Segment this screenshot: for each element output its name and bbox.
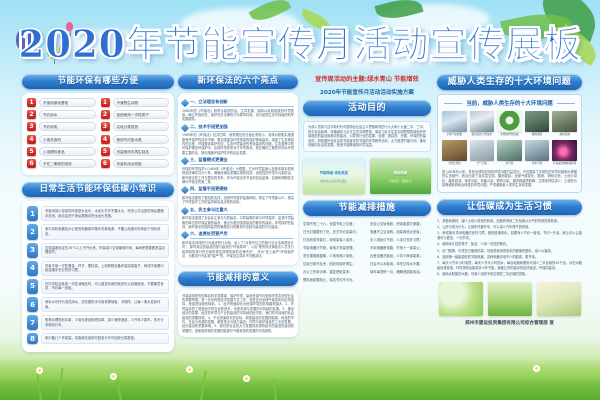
list-item: 不用电器断电路，节电十一省量公；: [370, 244, 431, 252]
flower-decoration: [110, 373, 117, 380]
list-number: 7: [27, 315, 38, 330]
list-item: 1不使用钢化餐柜: [27, 98, 96, 107]
section-header-daily-knowledge: 日常生活节能环保低碳小常识: [22, 182, 174, 197]
problem-photo: [470, 111, 495, 132]
problem-caption: 水污染: [497, 161, 522, 166]
problem-photo: [470, 140, 495, 161]
problem-photo: [525, 111, 550, 132]
list-item: 3节约用电: [27, 122, 96, 131]
list-item: 电器不立空运转，用量用低太安省；: [370, 228, 431, 236]
measures-list-right: 多坐公交轨地铁，积省能源又便捷； 电器不立空运转，用量用低太安省； 无人用处灯不…: [370, 220, 431, 285]
column-right: 威胁人类生存的十大环境问题 当前，威胁人类生存的十大环境问题 全球气候变暖 臭氧…: [437, 74, 582, 372]
flower-decoration: [186, 366, 193, 373]
list-label: 少用塑料食品: [39, 147, 96, 156]
poster-image-left: 节能降碳 绿色发展 绿水青山 就是金山银山: [303, 158, 365, 194]
list-item: 出差自备洗漱品，少拿少换省能源；: [370, 252, 431, 260]
meaning-panel: 节能减排是贯彻落实科学发展观、保护环境、建设资源节约型和环境友好型社会的重要举措…: [178, 290, 298, 338]
subsection-body: 1989年的《环保法》总共四章，侧重理论的方面比重较小，具体对政策实施措施有环保…: [182, 133, 294, 155]
list-item: 5、出门购物，可重复已使用的袋，尽量是使用低成本的被使的塑料，减少公害用。: [437, 249, 582, 254]
list-item: 6、选用第一级能源效的节能电器，这种电器省电不少的能源，更节电。: [437, 255, 582, 260]
list-label: 不食野生动物: [113, 98, 170, 107]
eco-tips-panel: 1不使用钢化餐柜 2节约用水 3节约用电 4少用洗涤剂 5少用塑料食品 6不在二…: [22, 93, 174, 175]
section-header-purpose: 活动目的: [303, 100, 431, 116]
campaign-theme: 宣传周活动的主题:绿水青山 节能增效: [303, 74, 431, 83]
list-number: 4: [101, 135, 110, 144]
subsection-title: 五、民主参与比重大: [190, 207, 294, 215]
section-header-measures: 节能减排措施: [303, 200, 431, 216]
list-item: 2拒绝使用一次性筷子: [101, 110, 170, 119]
problems-intro: 进入80年代以来，具有全球性影响的环境问题日益突出，不仅直接了灾难性的环境问题和…: [442, 170, 577, 188]
eco-tips-column-1: 1不使用钢化餐柜 2节约用水 3节约用电 4少用洗涤剂 5少用塑料食品 6不在二…: [27, 98, 96, 171]
list-number: 4: [27, 135, 36, 144]
list-item: 6淘米水可作为浇花用水，洗衣服的水可用来擦地板、冲厕所，让每一滴水发挥作用。: [27, 297, 169, 312]
list-item: 1不食野生动物: [101, 98, 170, 107]
daily-knowledge-panel: 1尽量采用小容量的环保型水龙头，水龙头打开不要太大，洗完公共浴室的用后要随手关闭…: [22, 201, 174, 352]
problem-photo: [552, 140, 577, 161]
list-item: 2、让步行成为行为，让骑车代替开车，可以减少汽车尾气的排放。: [437, 225, 582, 230]
list-item: 4尽量不用一次性餐盒、杯子、塑料袋，上街购物自备布袋或菜篮子，养成不用餐巾纸及随…: [27, 261, 169, 276]
problem-caption: 土地荒漠化: [442, 161, 467, 166]
list-item: 4使用节约型水具: [101, 135, 170, 144]
problem-cell: 大气污染: [470, 140, 495, 166]
problem-photo: [497, 140, 522, 161]
problem-cell: 酸雨蔓延: [525, 111, 550, 137]
measures-lists: 空调不低二十六，全国节电上亿度； 日光灯被替代了化，旧式节约加量灯； 灯泡改成节…: [303, 220, 431, 285]
list-label: 不在二氧碳的排放: [39, 159, 96, 168]
list-number: 3: [27, 243, 38, 258]
list-item: 灯泡改成节能灯，用电量省人省多；: [303, 236, 364, 244]
problems-panel: 当前，威胁人类生存的十大环境问题 全球气候变暖 臭氧层的空洞加大 生物多样性锐减…: [437, 94, 582, 193]
flower-decoration: [243, 375, 250, 382]
section-header-problems: 威胁人类生存的十大环境问题: [437, 74, 582, 90]
diamond-bullet-icon: [181, 157, 189, 165]
subsection-body: 1989年的《环保法》侧重污染的防治，主导发展、保障公民和健康的环境质量。确立环…: [182, 109, 294, 122]
list-text: 尽量采用小容量的环保型水龙头，水龙头打开不要太大，洗完公共浴室的用后要随手关闭，…: [41, 206, 169, 221]
list-label: 使用节约型水具: [113, 135, 170, 144]
list-item: 8、使用太阳能热水器，尽量少用或不用空调的二氧化碳的排放。: [437, 272, 582, 277]
list-label: 拒绝使用一次性筷子: [113, 110, 170, 119]
list-text: 购物合理规划清单，少用无规划购物清单，减少食物浪费，少开车少乘车，多步行多骑自行…: [41, 315, 169, 330]
list-item: 3空调温度设定在26℃以上不开太低，尽量减少空调使用时间，每间房里要看室温合理调…: [27, 243, 169, 258]
illustration-row: [437, 282, 582, 316]
diamond-bullet-icon: [181, 206, 189, 214]
list-item: 1尽量采用小容量的环保型水龙头，水龙头打开不要太大，洗完公共浴室的用后要随手关闭…: [27, 206, 169, 221]
list-item: 社会不以水取用，年吃亿吨水不要；: [370, 260, 431, 268]
problem-photo: [442, 111, 467, 132]
problem-caption: 生物多样性锐减: [497, 132, 522, 137]
list-item: 日光灯被替代了化，旧式节约加量灯；: [303, 228, 364, 236]
subsection-title: 三、监管模式更健全: [190, 157, 294, 165]
subsection-body: 新环保法强调了社会民主参与与的建设，引导建筑的参与环境保护，监督环境监管的单位的…: [182, 216, 294, 229]
subsection-heading: 一、立法理念有创新: [182, 99, 294, 107]
column-mid: 新环保法的六个亮点 一、立法理念有创新 1989年的《环保法》侧重污染的防治，主…: [178, 74, 298, 372]
subsection-body: 新环保法提供了更加的支持，加快环境保护监管体制，规定了环境部公众，提高了环境保护…: [182, 196, 294, 205]
section-header-eco-tips: 节能环保有哪些方便: [22, 74, 174, 89]
illustration-recycling: [537, 282, 581, 316]
problems-inner-title: 当前，威胁人类生存的十大环境问题: [442, 99, 577, 107]
problem-photo: [525, 140, 550, 161]
subsection-heading: 二、技术手段更加强: [182, 124, 294, 132]
subsection-body: 新环保法具体的行为建设的行为新，加入了"对按不住之的按行业业法制规定计时"，新环…: [182, 241, 294, 259]
problem-cell: 臭氧层的空洞加大: [470, 111, 495, 137]
problem-cell: 生物多样性锐减: [497, 111, 522, 137]
list-text: 淘米水可作为浇花用水，洗衣服的水可用来擦地板、冲厕所，让每一滴水发挥作用。: [41, 297, 169, 312]
subsection-body: 环保的环境保护以1989年《环保法》为根据，它对环境监管以及基本基本原则规划法律…: [182, 167, 294, 185]
flower-decoration: [533, 365, 540, 372]
section-header-habits: 让低碳成为生活习惯: [437, 199, 582, 215]
problem-cell: 海水污染: [525, 140, 550, 166]
list-item: 4少用洗涤剂: [27, 135, 96, 144]
plan-title: 2020年节能宣传月活动活动实施方案: [303, 88, 431, 96]
eco-tips-column-2: 1不食野生动物 2拒绝使用一次性筷子 3垃圾分类投放 4使用节约型水具 5尽量使…: [101, 98, 170, 171]
list-item: 7购物合理规划清单，少用无规划购物清单，减少食物浪费，少开车少乘车，多步行多骑自…: [27, 315, 169, 330]
meaning-body: 节能减排是贯彻落实科学发展观、保护环境、建设资源节约型和环境友好型社会的重要举措…: [182, 294, 294, 334]
list-text: 家中备几个环保袋，将各种垃圾按可回收与不可回收分类投放。: [41, 333, 169, 344]
habits-list: 1、多植树造林，减少土地沙漠化的利用，还能有效地二氧化碳从大气的有效的排放量。 …: [437, 219, 582, 277]
list-label: 节约用水: [39, 110, 96, 119]
problem-caption: 全球气候变暖: [442, 132, 467, 137]
problem-cell: 土地荒漠化: [442, 140, 467, 166]
list-label: 尽量利用太阳能: [113, 159, 170, 168]
list-number: 5: [101, 147, 110, 156]
poster-image-left-title: 节能降碳 绿色发展: [303, 170, 365, 175]
problem-cell: 全球气候变暖: [442, 111, 467, 137]
illustration-cycling: [488, 282, 532, 316]
list-label: 尽量使用可再生制品: [113, 147, 170, 156]
diamond-bullet-icon: [181, 231, 189, 239]
illustration-family-tree: [439, 282, 483, 316]
subsection-title: 四、监管手段更硬核: [190, 186, 294, 194]
list-item: 塑料浪费要制止，保这节约不可为。: [303, 276, 364, 284]
problem-cell: 水污染: [497, 140, 522, 166]
grass-decoration-front: [0, 378, 600, 400]
problems-inner-title-text: 当前，威胁人类生存的十大环境问题: [462, 101, 556, 107]
list-number: 1: [101, 98, 110, 107]
problem-photo: [442, 140, 467, 161]
list-text: 家中待机电器及办公室的电器用毕随手关掉电源，不要让电源长时间处于待机状态。: [41, 224, 169, 239]
list-number: 2: [101, 110, 110, 119]
list-number: 3: [101, 122, 110, 131]
poster-image-right-subtitle: 节能先锋 · 低碳生活: [370, 179, 432, 183]
poster-image-left-subtitle: 绿水青山 就是金山银山: [303, 179, 365, 183]
new-law-panel: 一、立法理念有创新 1989年的《环保法》侧重污染的防治，主导发展、保障公民和健…: [178, 93, 298, 265]
list-label: 少用洗涤剂: [39, 135, 96, 144]
list-item: 3、养成随手关闭电器的良好习惯，做快是通电化，如果有人节约一度电，节约一升油，就…: [437, 231, 582, 241]
list-item: 多坐公交轨地铁，积省能源又便捷；: [370, 220, 431, 228]
list-number: 8: [27, 333, 38, 344]
diamond-bullet-icon: [181, 186, 189, 194]
problems-grid: 全球气候变暖 臭氧层的空洞加大 生物多样性锐减 酸雨蔓延 森林锐减 土地荒漠化 …: [442, 111, 577, 166]
problem-caption: 大气污染: [470, 161, 495, 166]
list-text: 尽量不用一次性餐盒、杯子、塑料袋，上街购物自备布袋或菜篮子，养成不用餐巾纸及随手…: [41, 261, 169, 276]
column-left: 节能环保有哪些方便 1不使用钢化餐柜 2节约用水 3节约用电 4少用洗涤剂 5少…: [22, 74, 174, 372]
list-item: 多去楼梯爬楼梯，少用电梯少用电；: [303, 252, 364, 260]
subsection-heading: 四、监管手段更硬核: [182, 186, 294, 194]
list-label: 垃圾分类投放: [113, 122, 170, 131]
publisher-credit: 郑州市建设投资集团有限公司综合管理部 宣: [437, 320, 582, 326]
list-number: 6: [27, 159, 36, 168]
list-number: 2: [27, 224, 38, 239]
subsection-heading: 三、监管模式更健全: [182, 157, 294, 165]
list-item: 2节约用水: [27, 110, 96, 119]
list-item: 2家中待机电器及办公室的电器用毕随手关掉电源，不要让电源长时间处于待机状态。: [27, 224, 169, 239]
list-item: 节能电器巧节规，省电才多量是理；: [303, 244, 364, 252]
poster-root: 2020年节能宣传月活动宣传展板 节能环保有哪些方便 1不使用钢化餐柜 2节约用…: [0, 0, 600, 400]
problem-caption: 森林锐减: [552, 132, 577, 137]
list-text: 在打印机及各类一次性消耗品时，可以重复利用的纸张可以双面使用，不要随意丢弃，节约…: [41, 279, 169, 294]
list-number: 6: [101, 159, 110, 168]
list-item: 无人用处灯不亮，人走灯关好习惯；: [370, 236, 431, 244]
flower-decoration: [36, 367, 43, 374]
title-banner: 2020年节能宣传月活动宣传展板: [0, 14, 600, 68]
list-item: 5在打印机及各类一次性消耗品时，可以重复利用的纸张可以双面使用，不要随意丢弃，节…: [27, 279, 169, 294]
diamond-bullet-icon: [181, 99, 189, 107]
problem-cell: 有毒废弃物越境转移: [552, 140, 577, 166]
list-number: 3: [27, 122, 36, 131]
purpose-body: 为深入贯彻习近平新时代中国特色社会主义思想和党的十九大和十九届二中、三中、四中全…: [303, 121, 431, 152]
list-label: 节约用电: [39, 122, 96, 131]
problem-caption: 海水污染: [525, 161, 550, 166]
list-item: 绿车每顶停一月，缓解浪费能省油。: [370, 268, 431, 276]
problem-photo: [497, 111, 522, 132]
list-number: 4: [27, 261, 38, 276]
poster-image-right: 绿色低碳 节能先锋 · 低碳生活: [370, 158, 432, 194]
list-item: 办公工作用法律，重复把纸量多；: [303, 268, 364, 276]
subsection-heading: 五、民主参与比重大: [182, 207, 294, 215]
subsection-title: 二、技术手段更加强: [190, 124, 294, 132]
section-header-meaning: 节能减排的意义: [178, 271, 298, 286]
list-item: 6尽量利用太阳能: [101, 159, 170, 168]
measures-list-left: 空调不低二十六，全国节电上亿度； 日光灯被替代了化，旧式节约加量灯； 灯泡改成节…: [303, 220, 364, 285]
list-number: 1: [27, 98, 36, 107]
list-item: 8家中备几个环保袋，将各种垃圾按可回收与不可回收分类投放。: [27, 333, 169, 344]
list-number: 5: [27, 147, 36, 156]
page-title: 2020年节能宣传月活动宣传展板: [19, 14, 582, 68]
problem-cell: 森林锐减: [552, 111, 577, 137]
list-item: 垃圾分类不乱丢，回收利用好再生；: [303, 260, 364, 268]
list-label: 不使用钢化餐柜: [39, 98, 96, 107]
problem-caption: 有毒废弃物越境转移: [552, 161, 577, 166]
content-board: 节能环保有哪些方便 1不使用钢化餐柜 2节约用水 3节约用电 4少用洗涤剂 5少…: [22, 74, 582, 372]
subsection-heading: 六、追责处罚更严厉: [182, 231, 294, 239]
list-item: 7、每天少开半小时电视，每天少开半小时的水，每台电脑和照用可减少二氧化碳的42千…: [437, 261, 582, 271]
list-item: 空调不低二十六，全国节电上亿度；: [303, 220, 364, 228]
list-number: 5: [27, 279, 38, 294]
poster-image-right-title: 绿色低碳: [370, 170, 432, 175]
column-center: 宣传周活动的主题:绿水青山 节能增效 2020年节能宣传月活动活动实施方案 活动…: [303, 74, 431, 372]
list-text: 空调温度设定在26℃以上不开太低，尽量减少空调使用时间，每间房里要看室温合理调节…: [41, 243, 169, 258]
list-item: 4、使用永久性的筷子、饭盒、少用一次性的餐具。: [437, 242, 582, 247]
list-item: 1、多植树造林，减少土地沙漠化的利用，还能有效地二氧化碳从大气的有效的排放量。: [437, 219, 582, 224]
list-item: 5尽量使用可再生制品: [101, 147, 170, 156]
list-number: 2: [27, 110, 36, 119]
list-item: 3垃圾分类投放: [101, 122, 170, 131]
problem-caption: 臭氧层的空洞加大: [470, 132, 495, 137]
eco-tips-columns: 1不使用钢化餐柜 2节约用水 3节约用电 4少用洗涤剂 5少用塑料食品 6不在二…: [27, 98, 169, 171]
subsection-title: 一、立法理念有创新: [190, 99, 294, 107]
list-item: 6不在二氧碳的排放: [27, 159, 96, 168]
diamond-bullet-icon: [181, 123, 189, 131]
section-header-new-law: 新环保法的六个亮点: [178, 74, 298, 89]
list-number: 1: [27, 206, 38, 221]
subsection-title: 六、追责处罚更严厉: [190, 231, 294, 239]
problem-caption: 酸雨蔓延: [525, 132, 550, 137]
problem-photo: [552, 111, 577, 132]
list-number: 6: [27, 297, 38, 312]
list-item: 5少用塑料食品: [27, 147, 96, 156]
poster-image-row: 节能降碳 绿色发展 绿水青山 就是金山银山 绿色低碳 节能先锋 · 低碳生活: [303, 158, 431, 194]
